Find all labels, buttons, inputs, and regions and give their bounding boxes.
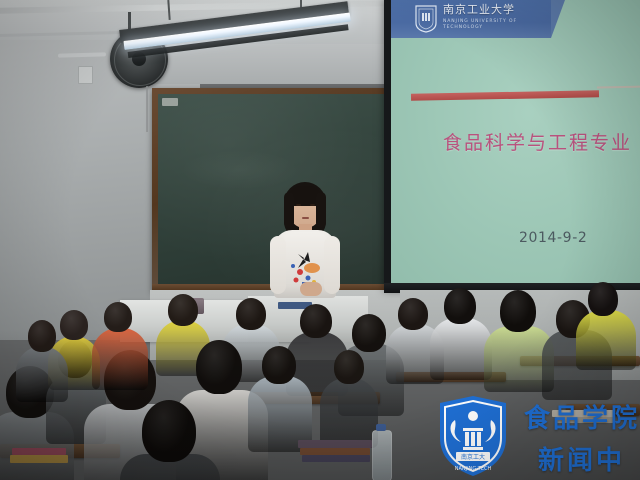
- slide-university-name-en: NANJING UNIVERSITY OF TECHNOLOGY: [443, 19, 553, 31]
- news-center-shield-icon: 南京工大 NANJING TECH: [436, 394, 510, 478]
- watermark-line-1: 食品学院: [524, 398, 640, 435]
- svg-text:南京工大: 南京工大: [461, 453, 485, 461]
- slide-title: 食品科学与工程专业: [443, 128, 640, 155]
- projection-screen: 南京工业大学 NANJING UNIVERSITY OF TECHNOLOGY …: [391, 0, 640, 283]
- svg-text:NANJING TECH: NANJING TECH: [455, 466, 492, 472]
- slide-accent-rule-thin: [597, 86, 640, 89]
- slide-date: 2014-9-2: [519, 230, 587, 246]
- watermark: 南京工大 NANJING TECH 食品学院 新闻中心: [432, 392, 640, 480]
- slide-university-name-cn: 南京工业大学: [443, 4, 547, 16]
- student-head: [588, 282, 618, 316]
- presenter-mouth: [302, 217, 309, 219]
- presenter-eye-left: [296, 204, 301, 206]
- student-head: [236, 298, 266, 330]
- presenter-hair-left: [284, 192, 294, 228]
- wall-cable: [146, 86, 148, 132]
- presenter-eye-right: [310, 204, 315, 206]
- student-head: [104, 302, 132, 332]
- watermark-line-2: 新闻中心: [538, 440, 640, 480]
- slide-accent-rule: [411, 90, 599, 101]
- presenter-hair-right: [316, 192, 326, 228]
- blackboard-clip: [162, 98, 178, 106]
- student-head: [444, 288, 476, 324]
- student-head: [398, 298, 428, 330]
- classroom-photo: 南京工业大学 NANJING UNIVERSITY OF TECHNOLOGY …: [0, 0, 640, 480]
- university-shield-icon: [415, 5, 437, 33]
- slide-header-band-tail: [551, 0, 565, 38]
- wall-socket: [78, 66, 93, 84]
- student-head: [168, 294, 198, 326]
- student-head: [500, 290, 536, 332]
